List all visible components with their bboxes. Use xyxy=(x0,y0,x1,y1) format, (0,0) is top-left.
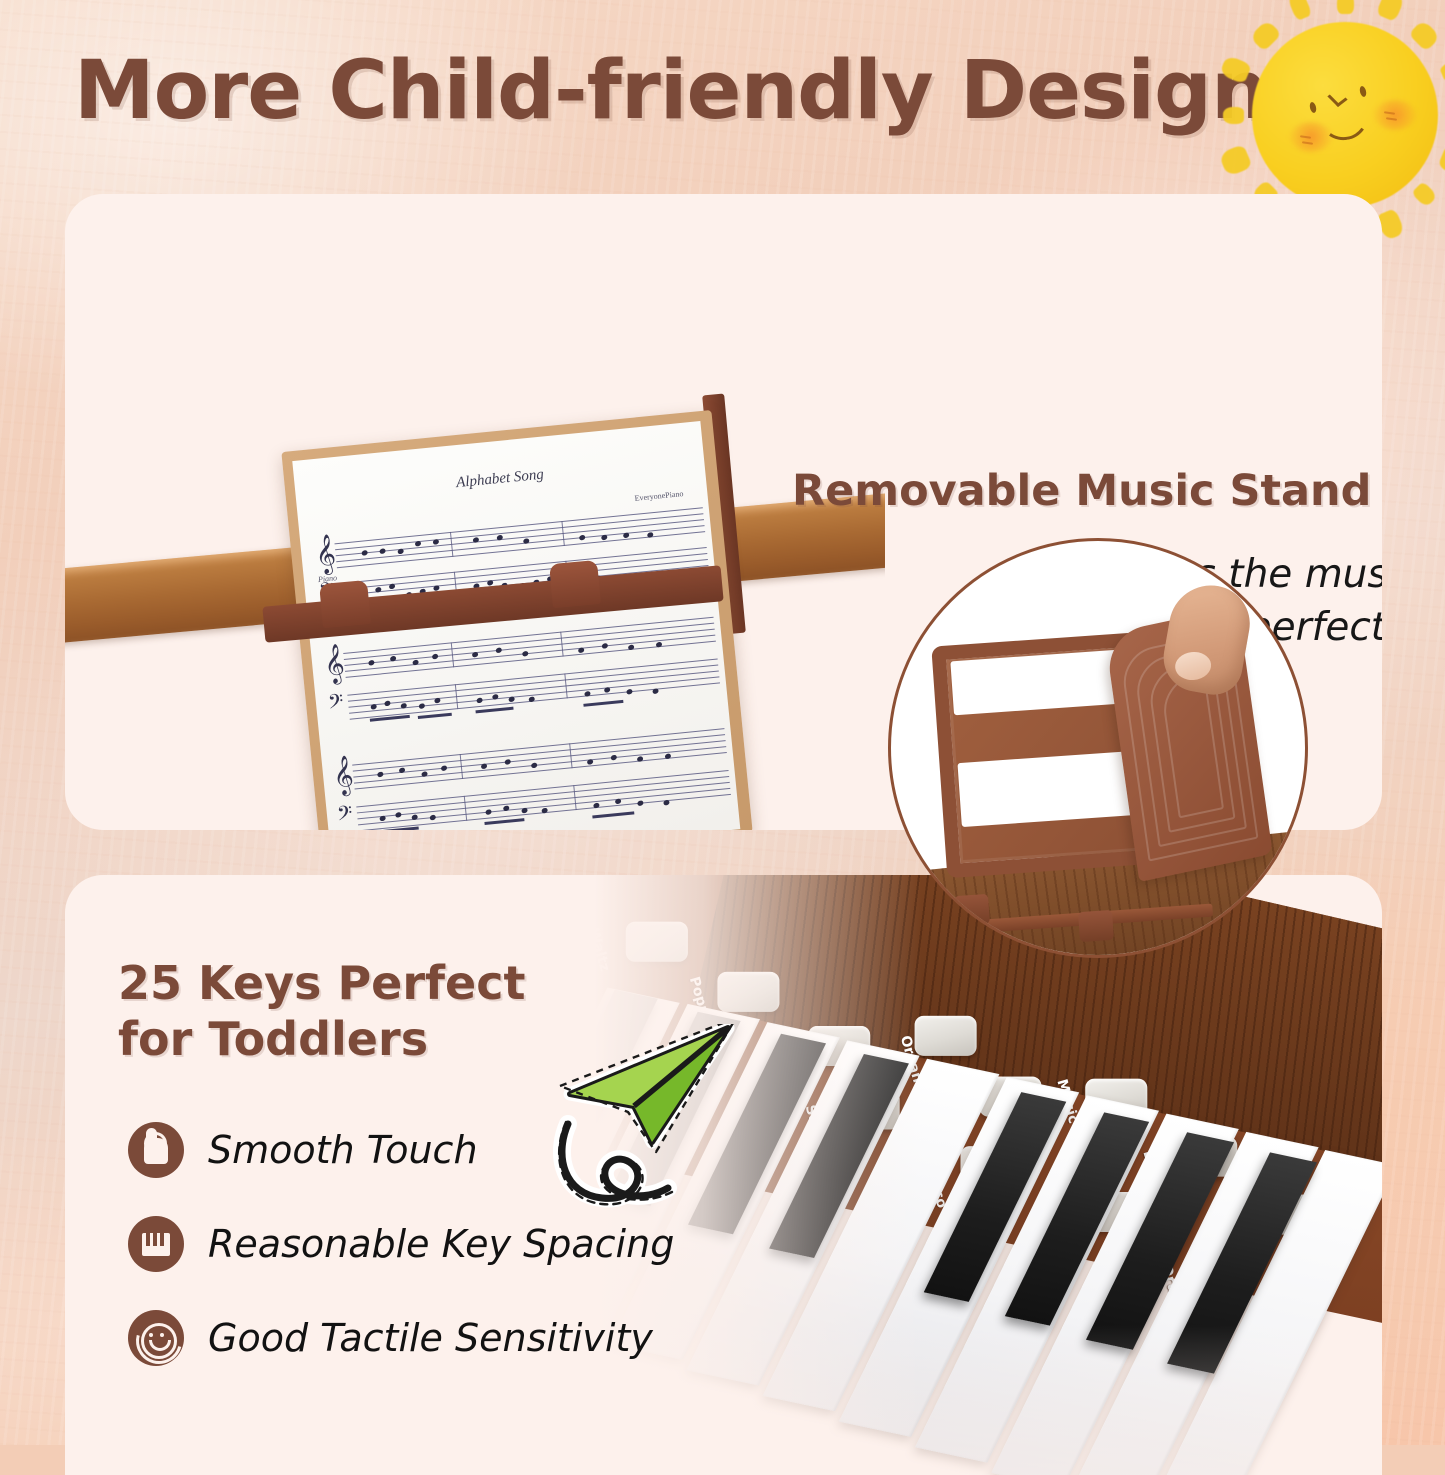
treble-clef: 𝄞 xyxy=(322,643,346,685)
sun-ray xyxy=(1219,55,1252,85)
feature-item-tactile: Good Tactile Sensitivity xyxy=(128,1310,674,1366)
treble-clef: 𝄞 xyxy=(331,755,355,797)
control-button-organ[interactable] xyxy=(915,1016,977,1056)
sun-ray xyxy=(1219,143,1254,176)
music-stand-heading: Removable Music Stand xyxy=(792,466,1371,516)
touch-hand-icon xyxy=(128,1122,184,1178)
sheet-credit: EveryonePiano xyxy=(634,489,684,503)
feature-item-key-spacing: Reasonable Key Spacing xyxy=(128,1216,674,1272)
paper-plane-icon xyxy=(548,1024,758,1224)
music-stand-closeup-inset xyxy=(888,538,1308,958)
sun-ray xyxy=(1408,20,1441,53)
feature-label: Good Tactile Sensitivity xyxy=(208,1316,653,1360)
bass-clef: 𝄢 xyxy=(336,801,354,830)
sun-cheek-right xyxy=(1374,100,1416,130)
thumb-nail xyxy=(1174,650,1213,682)
stand-clip-right xyxy=(549,560,601,608)
stand-slot-lower xyxy=(957,750,1147,827)
feature-label: Smooth Touch xyxy=(208,1128,478,1172)
music-stand-photo: Alphabet Song EveryonePiano Piano 𝄞 𝄢 xyxy=(65,194,885,830)
smiley-face-icon xyxy=(128,1310,184,1366)
sun-ray xyxy=(1223,107,1244,124)
bass-clef: 𝄢 xyxy=(327,689,345,718)
keys-heading-line-1: 25 Keys Perfect xyxy=(118,956,526,1010)
page-title: More Child-friendly Design xyxy=(74,44,1204,138)
sun-ray xyxy=(1287,0,1313,22)
stand-foot xyxy=(1078,910,1114,942)
stand-clip-left xyxy=(319,580,371,628)
sun-ray xyxy=(1438,57,1445,83)
sun-ray xyxy=(1250,20,1283,53)
keys-heading-line-2: for Toddlers xyxy=(118,1012,428,1066)
sun-ray xyxy=(1337,0,1354,14)
sun-ray xyxy=(1437,143,1445,176)
piano-keys-icon xyxy=(128,1216,184,1272)
feature-label: Reasonable Key Spacing xyxy=(208,1222,674,1266)
treble-clef: 𝄞 xyxy=(314,533,338,575)
stand-foot xyxy=(954,894,990,926)
sun-ray xyxy=(1411,181,1438,208)
sun-ray xyxy=(1375,0,1405,22)
